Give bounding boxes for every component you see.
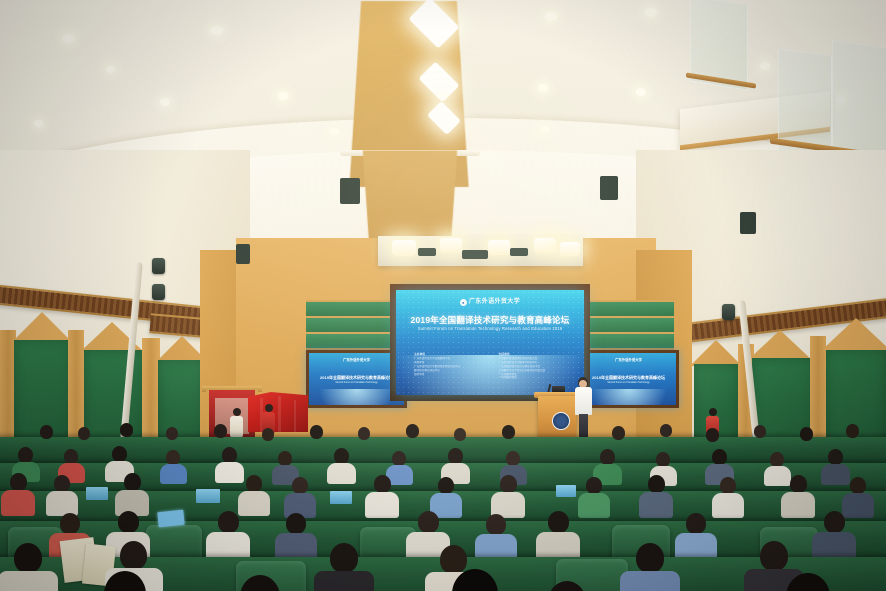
attendee-laptop-4 <box>556 485 576 497</box>
attendee-torso <box>365 492 399 518</box>
attendee <box>754 425 766 438</box>
projector-unit-2 <box>418 248 436 256</box>
attendee <box>112 446 127 462</box>
attendee <box>218 511 239 533</box>
monitor-right-title: 2019年全国翻译技术研究与教育高峰论坛 <box>581 375 676 381</box>
attendee <box>246 475 262 492</box>
panel-triangle-right-3 <box>822 318 886 350</box>
attendee <box>64 449 78 464</box>
screen-title-en: Summit Forum on Translation Technology R… <box>396 326 584 331</box>
downlight-4 <box>645 8 657 17</box>
attendee <box>214 424 227 438</box>
attendee <box>824 511 845 533</box>
attendee-torso <box>160 464 187 484</box>
ceiling-speaker-left <box>236 244 250 264</box>
attendee <box>486 514 506 535</box>
attendee <box>166 450 180 465</box>
attendee <box>500 475 517 493</box>
attendee <box>406 424 419 438</box>
attendee-holding-phone <box>118 511 139 533</box>
downlight-1 <box>62 34 75 43</box>
projector-unit-3 <box>510 248 528 256</box>
attendee <box>828 449 843 465</box>
attendee <box>334 448 349 464</box>
attendee <box>418 511 439 533</box>
pole-lamp-left-1 <box>152 258 165 274</box>
downlight-8 <box>636 88 646 96</box>
downlight-5 <box>160 98 170 106</box>
attendee-foreground <box>240 575 280 591</box>
attendee <box>800 427 813 441</box>
attendee-torso <box>578 493 610 518</box>
attendee <box>760 541 788 571</box>
attendee <box>706 428 719 442</box>
attendee <box>548 511 569 533</box>
attendee <box>648 475 665 493</box>
attendant-head <box>265 404 273 412</box>
monitor-right-logo: 广东外语外贸大学 <box>581 357 676 362</box>
attendee-torso <box>781 492 815 518</box>
attendee <box>600 449 615 465</box>
projector-unit-1 <box>462 250 488 259</box>
right-column-item: 广州市翻译协会 <box>499 376 570 380</box>
attendee <box>686 513 706 534</box>
auditorium-photo: 广东外语外贸大学 2019年全国翻译技术研究与教育高峰论坛 Summit For… <box>0 0 886 591</box>
attendee <box>712 449 727 465</box>
left-column-heading: 主办单位 <box>414 352 485 356</box>
downlight-7 <box>538 84 548 92</box>
downlight-14 <box>34 120 43 127</box>
left-column-item: 协办单位 <box>414 373 485 377</box>
monitor-right-sub: Summit Forum on Translation Technology <box>581 382 676 384</box>
screen-logo-text: 广东外语外贸大学 <box>469 299 520 305</box>
right-column-heading: 支持单位 <box>499 352 570 356</box>
attendee <box>770 452 784 467</box>
attendee <box>454 428 466 441</box>
attendee <box>656 452 670 467</box>
side-monitor-right: 广东外语外贸大学 2019年全国翻译技术研究与教育高峰论坛 Summit For… <box>578 350 679 408</box>
attendee-torso <box>712 493 744 518</box>
attendee <box>586 477 602 494</box>
panel-triangle-right-2 <box>748 330 812 360</box>
attendee <box>120 423 133 437</box>
attendee <box>636 543 664 573</box>
screen-organizer-columns: 主办单位 广东外语外贸大学高级翻译学院 承办单位 广东外语外贸大学翻译技术教育研… <box>414 352 569 380</box>
attendee <box>310 425 323 439</box>
attendee-torso <box>1 490 35 516</box>
attendee-torso <box>620 571 680 591</box>
attendee-laptop-2 <box>196 489 220 503</box>
attendee <box>286 513 306 534</box>
attendee-foreground <box>452 569 498 591</box>
attendee-torso <box>639 492 673 518</box>
attendee-torso <box>764 466 791 486</box>
downlight-10 <box>330 128 339 135</box>
ceiling-speaker-center <box>340 178 360 204</box>
attendee <box>60 513 80 534</box>
downlight-12 <box>760 62 770 70</box>
screen-right-column: 支持单位 中国翻译协会翻译技术研究委员会 广东外语外贸大学翻译学研究中心 广东省… <box>499 352 570 380</box>
attendee-smartphone <box>157 510 184 528</box>
attendee-torso <box>327 463 356 484</box>
stage-spotlight-3 <box>488 240 510 255</box>
downlight-2 <box>210 26 223 35</box>
attendee-torso <box>0 571 58 591</box>
attendee-foreground <box>104 571 146 591</box>
attendee <box>330 543 358 573</box>
speaker-shirt <box>575 387 592 415</box>
attendee-torso <box>215 462 244 483</box>
downlight-6 <box>278 92 288 100</box>
panel-triangle-left-1 <box>12 312 72 342</box>
screen-left-column: 主办单位 广东外语外贸大学高级翻译学院 承办单位 广东外语外贸大学翻译技术教育研… <box>414 352 485 380</box>
downlight-3 <box>545 12 557 21</box>
attendee <box>502 425 515 439</box>
monitor-glow-left <box>319 389 395 408</box>
attendee <box>278 451 292 466</box>
attendee <box>78 427 90 440</box>
attendee <box>506 451 520 466</box>
attendee <box>720 477 736 494</box>
attendee-torso <box>314 571 374 591</box>
university-seal-icon: ● <box>460 299 467 306</box>
attendee <box>660 424 672 437</box>
stage-spotlight-1 <box>392 240 416 256</box>
monitor-glow-right <box>591 389 667 408</box>
stage-spotlight-2 <box>440 238 462 253</box>
attendee <box>846 424 859 438</box>
downlight-11 <box>540 126 549 133</box>
attendee <box>120 541 147 570</box>
attendee <box>262 428 274 441</box>
panel-triangle-right-1 <box>690 340 742 366</box>
attendee <box>612 426 625 440</box>
stage-green-band-6 <box>578 332 674 350</box>
ceiling-speaker-right <box>600 176 618 200</box>
attendee-foreground <box>786 573 830 591</box>
stage-spotlight-4 <box>534 238 556 253</box>
attendee <box>850 477 866 494</box>
screen-title-cn: 2019年全国翻译技术研究与教育高峰论坛 <box>396 314 584 326</box>
attendee <box>392 451 406 466</box>
downlight-9 <box>106 66 115 73</box>
screen-university-logo: ●广东外语外贸大学 <box>396 296 584 306</box>
attendee <box>292 477 308 494</box>
attendee <box>166 427 178 440</box>
attendee <box>18 447 33 463</box>
ceiling-speaker-right-2 <box>740 212 756 234</box>
attendee-laptop-3 <box>330 491 352 504</box>
attendee <box>790 475 807 493</box>
attendee-torso <box>821 464 850 485</box>
attendee <box>54 475 70 492</box>
attendee <box>374 475 391 493</box>
audience-area <box>0 415 886 591</box>
main-led-screen: ●广东外语外贸大学 2019年全国翻译技术研究与教育高峰论坛 Summit Fo… <box>396 290 584 395</box>
attendee <box>124 473 141 491</box>
attendee-torso <box>238 491 270 516</box>
attendee <box>358 427 370 440</box>
attendee <box>222 447 237 463</box>
stage-spotlight-5 <box>560 242 580 256</box>
attendee <box>14 543 42 573</box>
attendee-torso <box>842 493 874 518</box>
pole-lamp-right-1 <box>722 304 735 320</box>
attendee <box>448 448 463 464</box>
attendee <box>438 477 454 494</box>
attendee-foreground <box>548 581 586 591</box>
attendee <box>40 425 53 439</box>
seat-row-far <box>0 437 886 463</box>
pole-lamp-left-2 <box>152 284 165 300</box>
attendee-laptop-1 <box>86 487 108 500</box>
attendee <box>10 473 27 491</box>
